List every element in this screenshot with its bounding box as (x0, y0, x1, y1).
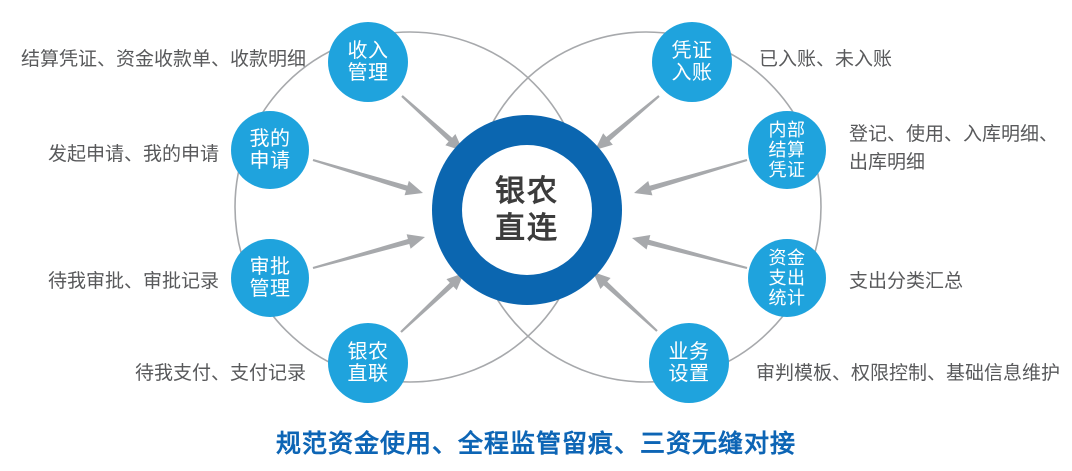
arrow-fund-expenditure-stats (632, 235, 747, 269)
node-label-line: 结算 (769, 140, 806, 160)
node-approval-management[interactable]: 审批管理 (231, 239, 309, 317)
node-income-management[interactable]: 收入管理 (328, 22, 408, 102)
node-voucher-entry[interactable]: 凭证入账 (652, 22, 732, 102)
arrow-my-application (313, 159, 423, 195)
node-label-line: 管理 (348, 62, 389, 84)
node-label-line: 我的 (250, 128, 291, 150)
node-fund-expenditure-stats[interactable]: 资金支出统计 (748, 239, 826, 317)
node-business-settings[interactable]: 业务设置 (649, 323, 729, 403)
label-my-application: 发起申请、我的申请 (0, 141, 219, 169)
label-line: 出库明细 (849, 149, 1058, 177)
node-label-line: 银农 (348, 341, 389, 363)
node-label-line: 审批 (250, 256, 291, 278)
node-label-line: 内部 (769, 120, 806, 140)
node-label-line: 凭证 (769, 160, 806, 180)
label-approval-management: 待我审批、审批记录 (0, 268, 219, 296)
label-line: 支出分类汇总 (849, 268, 963, 296)
arrow-business-settings (593, 272, 658, 332)
center-hub[interactable]: 银农直连 (432, 115, 622, 305)
arrow-internal-settlement-voucher (634, 159, 747, 195)
label-line: 待我支付、支付记录 (0, 360, 306, 388)
label-line: 审判模板、权限控制、基础信息维护 (756, 360, 1060, 388)
diagram-root: 收入管理我的申请审批管理银农直联凭证入账内部结算凭证资金支出统计业务设置 结算凭… (0, 0, 1072, 471)
node-internal-settlement-voucher[interactable]: 内部结算凭证 (748, 111, 826, 189)
label-voucher-entry: 已入账、未入账 (759, 46, 892, 74)
label-business-settings: 审判模板、权限控制、基础信息维护 (756, 360, 1060, 388)
label-line: 结算凭证、资金收款单、收款明细 (0, 46, 306, 74)
label-fund-expenditure-stats: 支出分类汇总 (849, 268, 963, 296)
node-label-line: 凭证 (672, 40, 713, 62)
node-label-line: 支出 (769, 268, 806, 288)
label-line: 已入账、未入账 (759, 46, 892, 74)
diagram-caption: 规范资金使用、全程监管留痕、三资无缝对接 (0, 424, 1072, 460)
label-line: 待我审批、审批记录 (0, 268, 219, 296)
label-line: 发起申请、我的申请 (0, 141, 219, 169)
node-label-line: 设置 (669, 363, 710, 385)
node-label-line: 统计 (769, 288, 806, 308)
label-bank-farmer-direct: 待我支付、支付记录 (0, 360, 306, 388)
node-label-line: 管理 (250, 278, 291, 300)
label-internal-settlement-voucher: 登记、使用、入库明细、出库明细 (849, 121, 1058, 176)
node-bank-farmer-direct[interactable]: 银农直联 (328, 323, 408, 403)
node-label-line: 直联 (348, 363, 389, 385)
center-hub-line: 直连 (495, 210, 559, 247)
arrow-bank-farmer-direct (400, 273, 464, 333)
center-hub-line: 银农 (495, 173, 559, 210)
arrow-approval-management (313, 234, 425, 269)
node-label-line: 入账 (672, 62, 713, 84)
node-label-line: 申请 (250, 150, 291, 172)
node-my-application[interactable]: 我的申请 (231, 111, 309, 189)
arrow-income-management (401, 95, 463, 151)
arrow-voucher-entry (595, 95, 660, 150)
node-label-line: 收入 (348, 40, 389, 62)
node-label-line: 资金 (769, 248, 806, 268)
label-income-management: 结算凭证、资金收款单、收款明细 (0, 46, 306, 74)
label-line: 登记、使用、入库明细、 (849, 121, 1058, 149)
center-hub-inner: 银农直连 (462, 145, 592, 275)
node-label-line: 业务 (669, 341, 710, 363)
